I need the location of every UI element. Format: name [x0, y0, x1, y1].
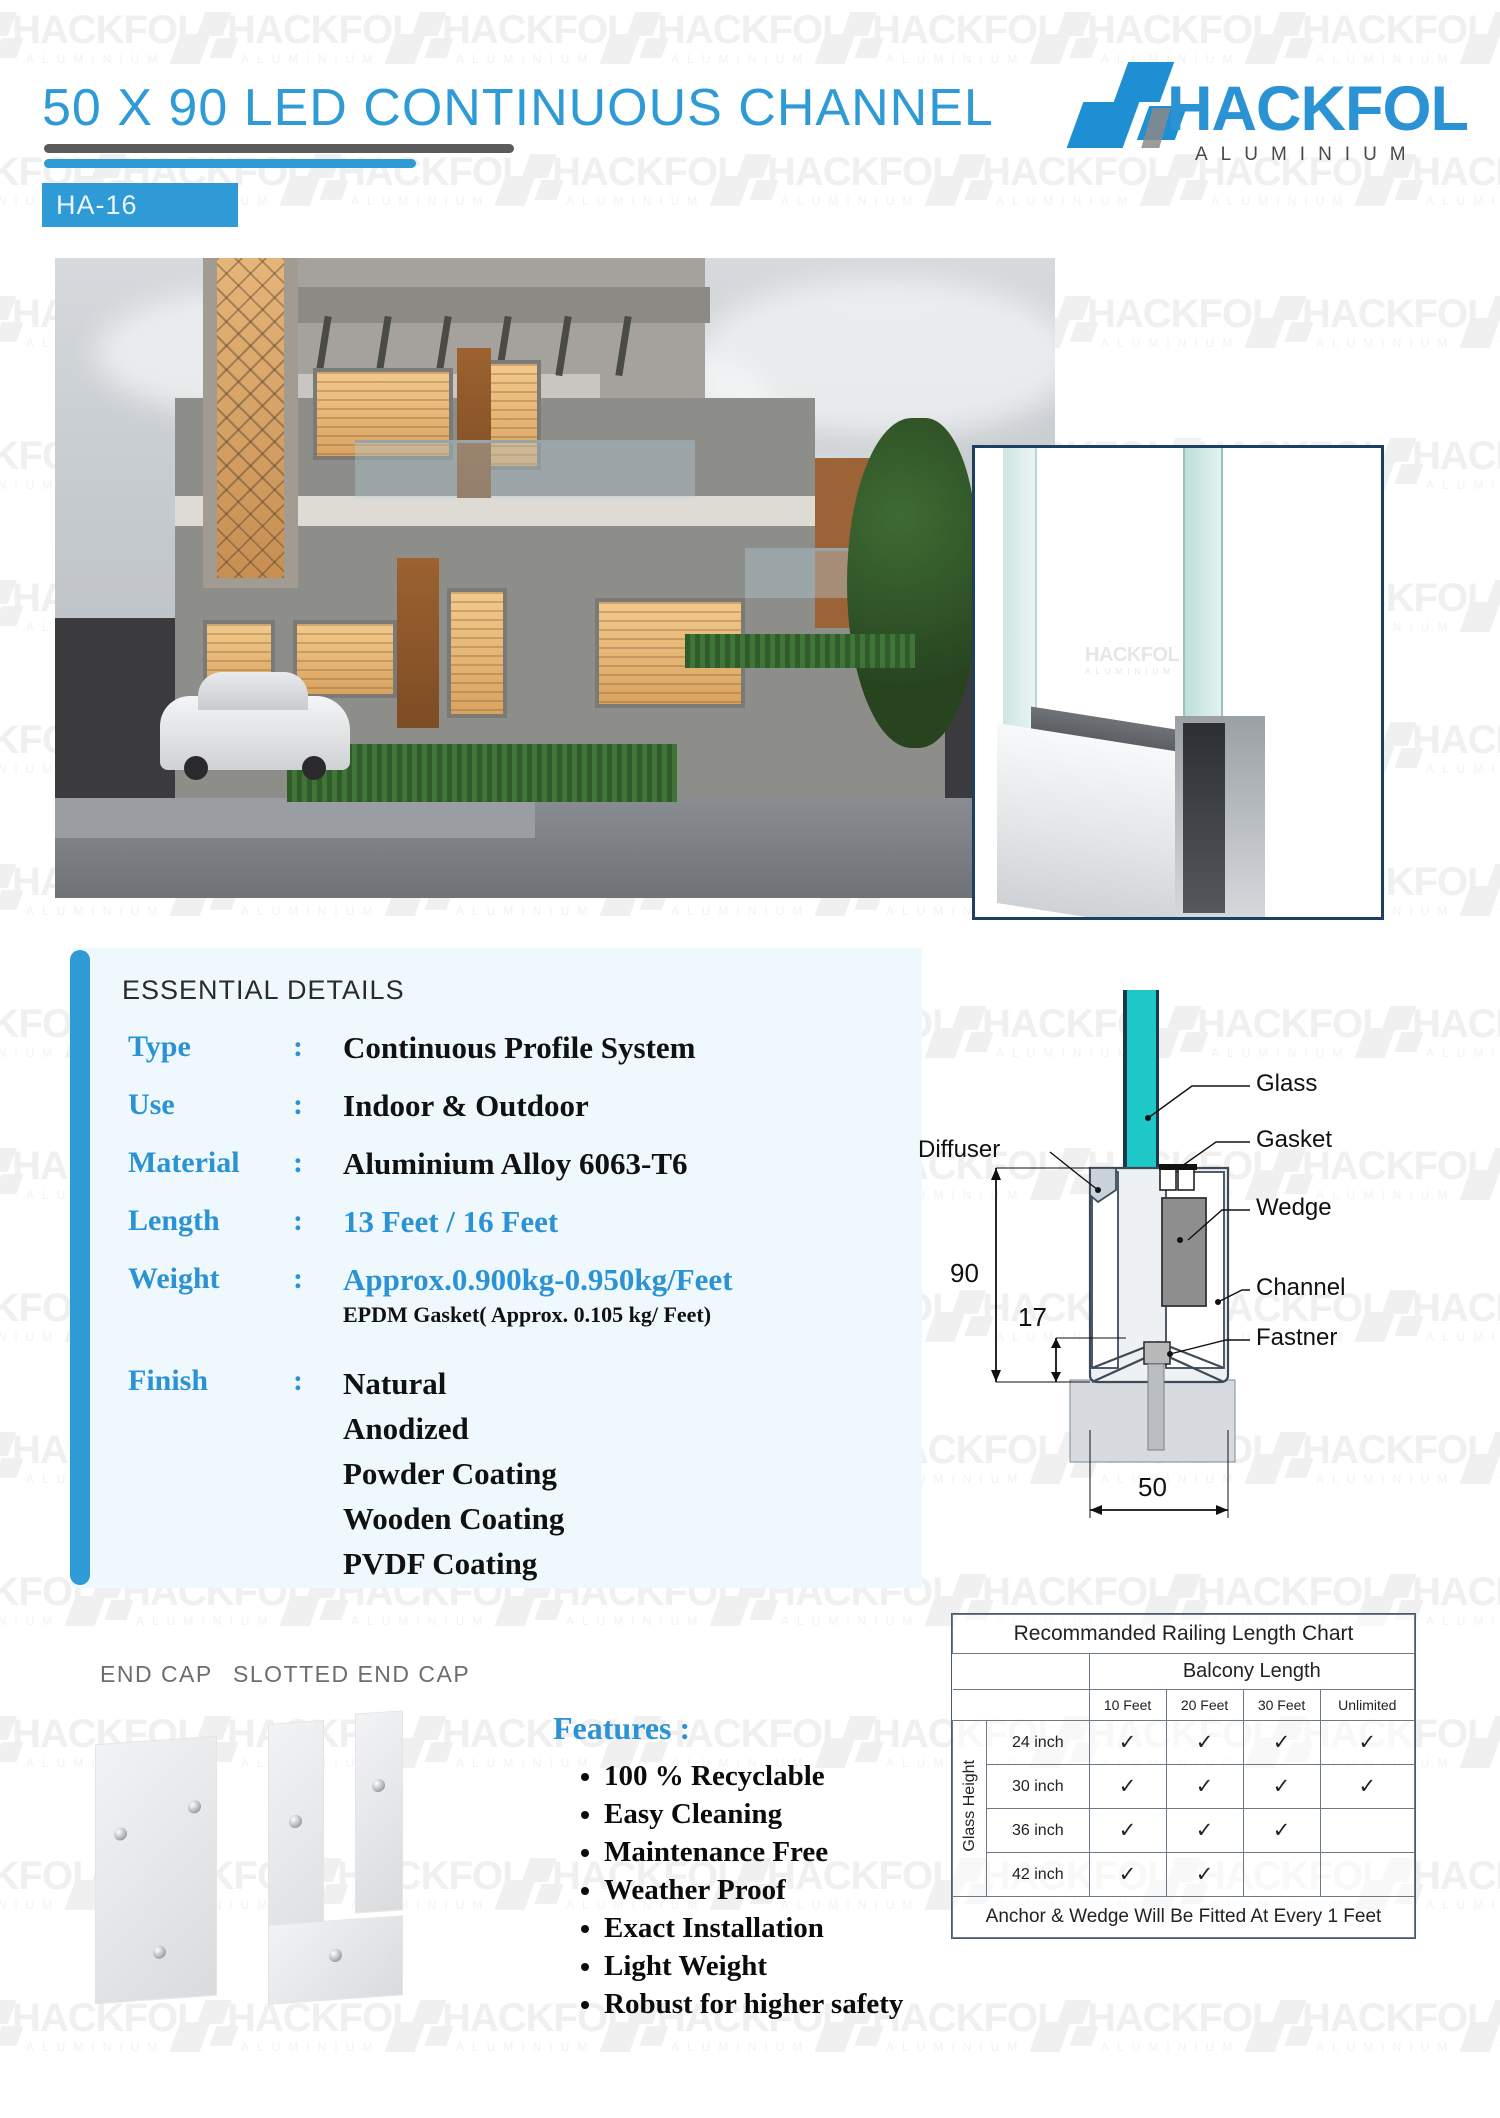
watermark-subtext: ALUMINIUM — [351, 1614, 490, 1628]
chart-check: ✓ — [1243, 1765, 1320, 1809]
watermark-subtext: ALUMINIUM — [0, 1330, 60, 1344]
watermark-tile: HACKFOLALUMINIUM — [500, 150, 750, 226]
chart-row-axis-label: Glass Height — [953, 1721, 987, 1897]
page-title: 50 X 90 LED CONTINUOUS CHANNEL — [42, 78, 994, 138]
spec-row-length: Length : 13 Feet / 16 Feet — [128, 1204, 868, 1240]
watermark-tile: HACKFOLALUMINIUM — [1035, 1996, 1285, 2072]
watermark-subtext: ALUMINIUM — [781, 1614, 920, 1628]
product-closeup-photo: HACKFOL ALUMINIUM — [972, 445, 1384, 920]
watermark-subtext: ALUMINIUM — [1426, 194, 1500, 208]
watermark-tile: HACKFOLALUMINIUM — [1035, 292, 1285, 368]
spec-row-weight: Weight : Approx.0.900kg-0.950kg/Feet EPD… — [128, 1262, 868, 1328]
watermark-tile: HACKFOLALUMINIUM — [605, 8, 855, 84]
watermark-text: HACKFOL — [552, 150, 741, 194]
spec-note-gasket: EPDM Gasket( Approx. 0.105 kg/ Feet) — [343, 1302, 733, 1328]
feature-item: 100 % Recyclable — [604, 1758, 903, 1796]
watermark-subtext: ALUMINIUM — [0, 1046, 60, 1060]
chart-corner-blank — [953, 1654, 1090, 1690]
watermark-subtext: ALUMINIUM — [1101, 336, 1240, 350]
chart-check-empty — [1243, 1853, 1320, 1897]
chart-row-label: 24 inch — [987, 1721, 1090, 1765]
spec-value: Indoor & Outdoor — [343, 1088, 589, 1124]
watermark-mark-icon — [605, 12, 667, 64]
photo-watermark: HACKFOL ALUMINIUM — [1085, 644, 1179, 676]
spec-colon: : — [293, 1204, 343, 1238]
end-cap-image — [95, 1736, 217, 2005]
watermark-tile: HACKFOLALUMINIUM — [1250, 1996, 1500, 2072]
watermark-subtext: ALUMINIUM — [456, 1756, 595, 1770]
slotted-end-cap-right — [355, 1710, 403, 1913]
spec-value: Approx.0.900kg-0.950kg/Feet — [343, 1262, 733, 1298]
watermark-mark-icon — [1465, 1716, 1500, 1768]
watermark-subtext: ALUMINIUM — [1426, 478, 1500, 492]
watermark-text: HACKFOL — [1302, 1996, 1491, 2040]
spec-table: Type : Continuous Profile System Use : I… — [128, 1030, 868, 1611]
watermark-subtext: ALUMINIUM — [456, 52, 595, 66]
watermark-subtext: ALUMINIUM — [566, 1614, 705, 1628]
watermark-mark-icon — [1465, 2000, 1500, 2052]
chart-corner-blank-2 — [953, 1690, 1090, 1721]
spec-label: Finish — [128, 1364, 293, 1398]
spec-colon: : — [293, 1030, 343, 1064]
chart-col-unlimited: Unlimited — [1320, 1690, 1414, 1721]
finish-option: Natural — [343, 1364, 564, 1403]
watermark-mark-icon — [1035, 2000, 1097, 2052]
watermark-mark-icon — [1465, 1432, 1500, 1484]
chart-check: ✓ — [1089, 1809, 1166, 1853]
watermark-subtext: ALUMINIUM — [671, 2040, 810, 2054]
watermark-mark-icon — [0, 580, 22, 632]
dimension-height: 90 — [950, 1258, 979, 1289]
railing-chart-table: Recommanded Railing Length Chart Balcony… — [952, 1614, 1415, 1938]
watermark-mark-icon — [175, 2000, 237, 2052]
watermark-subtext: ALUMINIUM — [1426, 1614, 1500, 1628]
watermark-subtext: ALUMINIUM — [1316, 336, 1455, 350]
chart-check: ✓ — [1166, 1765, 1243, 1809]
watermark-subtext: ALUMINIUM — [886, 2040, 1025, 2054]
watermark-tile: HACKFOLALUMINIUM — [0, 1854, 105, 1930]
watermark-text: HACKFOL — [872, 8, 1061, 52]
watermark-subtext: ALUMINIUM — [241, 2040, 380, 2054]
sku-badge: HA-16 — [42, 183, 238, 227]
watermark-text: HACKFOL — [442, 8, 631, 52]
watermark-mark-icon — [715, 154, 777, 206]
watermark-text: HACKFOL — [1087, 8, 1276, 52]
chart-check-empty — [1320, 1809, 1414, 1853]
cross-section-diagram: Diffuser Glass Gasket Wedge Channel Fast… — [930, 990, 1470, 1570]
watermark-subtext: ALUMINIUM — [241, 52, 380, 66]
spec-value: 13 Feet / 16 Feet — [343, 1204, 558, 1240]
watermark-subtext: ALUMINIUM — [136, 1614, 275, 1628]
chart-data-row: 30 inch ✓ ✓ ✓ ✓ — [953, 1765, 1415, 1809]
building-photo — [55, 258, 1055, 898]
watermark-subtext: ALUMINIUM — [671, 904, 810, 918]
watermark-mark-icon — [930, 154, 992, 206]
chart-check: ✓ — [1166, 1721, 1243, 1765]
watermark-mark-icon — [1465, 580, 1500, 632]
chart-title-row: Recommanded Railing Length Chart — [953, 1615, 1415, 1654]
chart-check: ✓ — [1166, 1853, 1243, 1897]
chart-check: ✓ — [1089, 1765, 1166, 1809]
chart-footnote: Anchor & Wedge Will Be Fitted At Every 1… — [953, 1897, 1415, 1938]
watermark-text: HACKFOL — [1197, 1570, 1386, 1614]
spec-value: Aluminium Alloy 6063-T6 — [343, 1146, 688, 1182]
spec-label: Material — [128, 1146, 293, 1180]
callout-fastner: Fastner — [1256, 1324, 1337, 1352]
watermark-mark-icon — [1035, 12, 1097, 64]
title-rule-blue — [44, 159, 416, 168]
watermark-mark-icon — [0, 12, 22, 64]
chart-check: ✓ — [1320, 1721, 1414, 1765]
spec-colon: : — [293, 1364, 343, 1398]
essential-details-heading: ESSENTIAL DETAILS — [122, 975, 405, 1006]
watermark-tile: HACKFOLALUMINIUM — [1465, 8, 1500, 84]
watermark-subtext: ALUMINIUM — [996, 194, 1135, 208]
watermark-mark-icon — [0, 864, 22, 916]
title-rule-dark — [44, 144, 514, 153]
finish-option: Anodized — [343, 1409, 564, 1448]
watermark-mark-icon — [0, 2000, 22, 2052]
watermark-subtext: ALUMINIUM — [456, 904, 595, 918]
watermark-mark-icon — [820, 12, 882, 64]
watermark-mark-icon — [1250, 296, 1312, 348]
features-list: 100 % RecyclableEasy CleaningMaintenance… — [578, 1758, 903, 2024]
spec-row-finish: Finish : Natural Anodized Powder Coating… — [128, 1364, 868, 1589]
watermark-subtext: ALUMINIUM — [781, 194, 920, 208]
watermark-tile: HACKFOLALUMINIUM — [1465, 860, 1500, 936]
chart-check: ✓ — [1089, 1721, 1166, 1765]
watermark-tile: HACKFOLALUMINIUM — [715, 150, 965, 226]
callout-gasket: Gasket — [1256, 1126, 1332, 1154]
finish-option: Powder Coating — [343, 1454, 564, 1493]
feature-item: Light Weight — [604, 1948, 903, 1986]
watermark-subtext: ALUMINIUM — [1426, 762, 1500, 776]
watermark-text: HACKFOL — [1412, 1570, 1500, 1614]
callout-channel: Channel — [1256, 1274, 1345, 1302]
watermark-mark-icon — [390, 12, 452, 64]
watermark-text: HACKFOL — [1412, 434, 1500, 478]
spec-colon: : — [293, 1088, 343, 1122]
watermark-tile: HACKFOLALUMINIUM — [390, 8, 640, 84]
feature-item: Exact Installation — [604, 1910, 903, 1948]
finish-option: PVDF Coating — [343, 1544, 564, 1583]
spec-label: Length — [128, 1204, 293, 1238]
watermark-tile: HACKFOLALUMINIUM — [1465, 576, 1500, 652]
chart-data-row: 42 inch ✓ ✓ — [953, 1853, 1415, 1897]
callout-diffuser: Diffuser — [918, 1136, 1000, 1164]
spec-label: Weight — [128, 1262, 293, 1296]
watermark-subtext: ALUMINIUM — [26, 904, 165, 918]
watermark-subtext: ALUMINIUM — [0, 1614, 60, 1628]
railing-length-chart: Recommanded Railing Length Chart Balcony… — [951, 1613, 1416, 1939]
watermark-text: HACKFOL — [1087, 292, 1276, 336]
finish-options: Natural Anodized Powder Coating Wooden C… — [343, 1364, 564, 1589]
chart-group-header: Balcony Length — [1089, 1654, 1414, 1690]
watermark-subtext: ALUMINIUM — [1211, 194, 1350, 208]
spec-label: Type — [128, 1030, 293, 1064]
chart-row-label: 42 inch — [987, 1853, 1090, 1897]
watermark-mark-icon — [0, 1716, 22, 1768]
cross-section-svg — [930, 990, 1470, 1570]
spec-row-material: Material : Aluminium Alloy 6063-T6 — [128, 1146, 868, 1182]
watermark-subtext: ALUMINIUM — [886, 52, 1025, 66]
spec-row-type: Type : Continuous Profile System — [128, 1030, 868, 1066]
watermark-mark-icon — [1465, 864, 1500, 916]
brand-subtitle: ALUMINIUM — [1195, 144, 1419, 166]
chart-col-30-feet: 30 Feet — [1243, 1690, 1320, 1721]
watermark-text: HACKFOL — [12, 8, 201, 52]
chart-row-label: 36 inch — [987, 1809, 1090, 1853]
watermark-mark-icon — [390, 2000, 452, 2052]
watermark-mark-icon — [175, 12, 237, 64]
chart-check: ✓ — [1243, 1721, 1320, 1765]
watermark-subtext: ALUMINIUM — [1101, 2040, 1240, 2054]
slotted-end-cap-base — [268, 1915, 403, 2004]
watermark-subtext: ALUMINIUM — [671, 52, 810, 66]
slotted-end-cap-label: SLOTTED END CAP — [233, 1661, 470, 1688]
watermark-subtext: ALUMINIUM — [1316, 2040, 1455, 2054]
chart-data-row: 36 inch ✓ ✓ ✓ — [953, 1809, 1415, 1853]
watermark-subtext: ALUMINIUM — [456, 2040, 595, 2054]
watermark-mark-icon — [1250, 2000, 1312, 2052]
chart-row-label: 30 inch — [987, 1765, 1090, 1809]
watermark-mark-icon — [500, 154, 562, 206]
chart-footnote-row: Anchor & Wedge Will Be Fitted At Every 1… — [953, 1897, 1415, 1938]
brand-name: HACKFOL — [1167, 76, 1468, 142]
watermark-text: HACKFOL — [0, 1854, 96, 1898]
chart-col-10-feet: 10 Feet — [1089, 1690, 1166, 1721]
watermark-subtext: ALUMINIUM — [0, 1898, 60, 1912]
watermark-tile: HACKFOLALUMINIUM — [175, 8, 425, 84]
spec-colon: : — [293, 1262, 343, 1296]
watermark-subtext: ALUMINIUM — [0, 762, 60, 776]
watermark-mark-icon — [1465, 296, 1500, 348]
datasheet-page: HACKFOLALUMINIUMHACKFOLALUMINIUMHACKFOLA… — [0, 0, 1500, 2118]
watermark-mark-icon — [0, 296, 22, 348]
watermark-mark-icon — [1250, 12, 1312, 64]
brand-logo: HACKFOL ALUMINIUM — [1075, 60, 1460, 170]
watermark-tile: HACKFOLALUMINIUM — [0, 8, 210, 84]
spec-row-use: Use : Indoor & Outdoor — [128, 1088, 868, 1124]
chart-column-header-row: 10 Feet 20 Feet 30 Feet Unlimited — [953, 1690, 1415, 1721]
watermark-text: HACKFOL — [982, 1570, 1171, 1614]
watermark-text: HACKFOL — [657, 8, 846, 52]
watermark-tile: HACKFOLALUMINIUM — [1465, 1144, 1500, 1220]
spec-value: Continuous Profile System — [343, 1030, 696, 1066]
watermark-mark-icon — [0, 1148, 22, 1200]
watermark-subtext: ALUMINIUM — [0, 478, 60, 492]
features-title: Features : — [553, 1710, 690, 1747]
callout-glass: Glass — [1256, 1070, 1317, 1098]
watermark-tile: HACKFOLALUMINIUM — [1465, 1428, 1500, 1504]
dimension-width: 50 — [1138, 1472, 1167, 1503]
feature-item: Maintenance Free — [604, 1834, 903, 1872]
watermark-text: HACKFOL — [1412, 1854, 1500, 1898]
watermark-subtext: ALUMINIUM — [566, 194, 705, 208]
watermark-text: HACKFOL — [227, 1996, 416, 2040]
details-accent-bar — [70, 950, 90, 1585]
watermark-tile: HACKFOLALUMINIUM — [820, 8, 1070, 84]
spec-label: Use — [128, 1088, 293, 1122]
chart-check: ✓ — [1320, 1765, 1414, 1809]
watermark-tile: HACKFOLALUMINIUM — [1250, 292, 1500, 368]
watermark-subtext: ALUMINIUM — [26, 2040, 165, 2054]
watermark-subtext: ALUMINIUM — [241, 904, 380, 918]
watermark-tile: HACKFOLALUMINIUM — [1465, 1712, 1500, 1788]
watermark-mark-icon — [0, 1432, 22, 1484]
finish-option: Wooden Coating — [343, 1499, 564, 1538]
watermark-text: HACKFOL — [1302, 292, 1491, 336]
watermark-text: HACKFOL — [1302, 8, 1491, 52]
watermark-text: HACKFOL — [227, 8, 416, 52]
chart-data-row: Glass Height 24 inch ✓ ✓ ✓ ✓ — [953, 1721, 1415, 1765]
watermark-tile: HACKFOLALUMINIUM — [175, 1996, 425, 2072]
watermark-text: HACKFOL — [767, 150, 956, 194]
watermark-mark-icon — [1465, 12, 1500, 64]
chart-title: Recommanded Railing Length Chart — [953, 1615, 1415, 1654]
watermark-mark-icon — [1465, 1148, 1500, 1200]
chart-col-20-feet: 20 Feet — [1166, 1690, 1243, 1721]
chart-check-empty — [1320, 1853, 1414, 1897]
feature-item: Robust for higher safety — [604, 1986, 903, 2024]
watermark-text: HACKFOL — [1412, 718, 1500, 762]
watermark-subtext: ALUMINIUM — [26, 52, 165, 66]
spec-colon: : — [293, 1146, 343, 1180]
watermark-subtext: ALUMINIUM — [351, 194, 490, 208]
watermark-text: HACKFOL — [337, 150, 526, 194]
chart-group-row: Balcony Length — [953, 1654, 1415, 1690]
callout-wedge: Wedge — [1256, 1194, 1332, 1222]
feature-item: Weather Proof — [604, 1872, 903, 1910]
end-cap-label: END CAP — [100, 1661, 213, 1688]
dimension-offset: 17 — [1018, 1302, 1047, 1333]
watermark-tile: HACKFOLALUMINIUM — [1465, 1996, 1500, 2072]
watermark-subtext: ALUMINIUM — [1426, 1898, 1500, 1912]
chart-check: ✓ — [1243, 1809, 1320, 1853]
feature-item: Easy Cleaning — [604, 1796, 903, 1834]
chart-check: ✓ — [1166, 1809, 1243, 1853]
watermark-text: HACKFOL — [1087, 1996, 1276, 2040]
watermark-tile: HACKFOLALUMINIUM — [1465, 292, 1500, 368]
watermark-tile: HACKFOLALUMINIUM — [0, 1996, 210, 2072]
watermark-mark-icon — [500, 1858, 562, 1910]
chart-check: ✓ — [1089, 1853, 1166, 1897]
